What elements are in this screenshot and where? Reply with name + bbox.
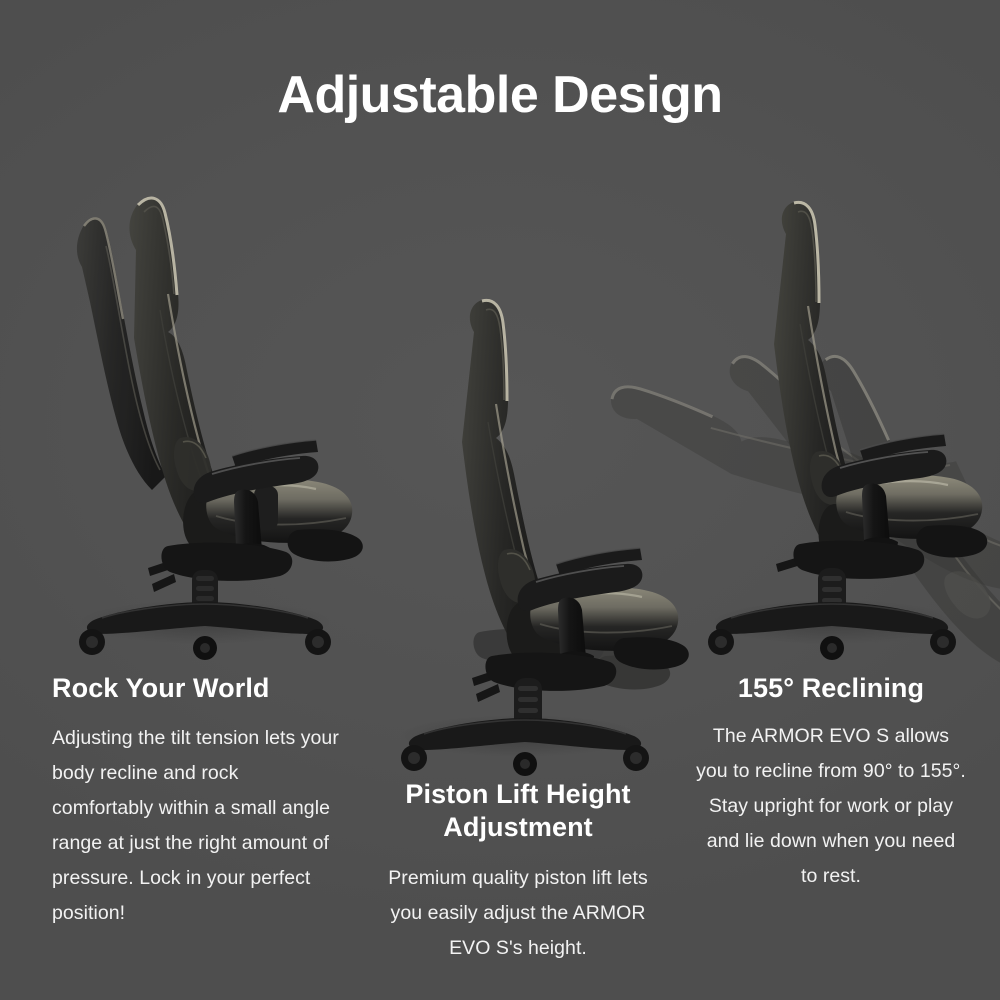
feature-heading: Piston Lift Height Adjustment — [372, 778, 664, 844]
feature-body: Premium quality piston lift lets you eas… — [372, 861, 664, 966]
feature-heading: Rock Your World — [52, 672, 342, 705]
product-feature-panel: Adjustable Design — [0, 0, 1000, 1000]
chair-image-rock-your-world — [40, 190, 370, 650]
feature-body: The ARMOR EVO S allows you to recline fr… — [696, 719, 966, 894]
page-title: Adjustable Design — [0, 66, 1000, 124]
feature-column-reclining: 155° Reclining The ARMOR EVO S allows yo… — [696, 672, 966, 894]
feature-body: Adjusting the tilt tension lets your bod… — [52, 721, 342, 931]
feature-column-piston-lift: Piston Lift Height Adjustment Premium qu… — [372, 778, 664, 966]
feature-heading: 155° Reclining — [696, 672, 966, 705]
tilt-mechanism — [161, 543, 292, 581]
chair-image-reclining — [560, 190, 980, 650]
chair-illustration-recline — [560, 190, 980, 650]
feature-column-rock-your-world: Rock Your World Adjusting the tilt tensi… — [52, 672, 342, 931]
chair-illustration-tilt — [40, 190, 370, 650]
